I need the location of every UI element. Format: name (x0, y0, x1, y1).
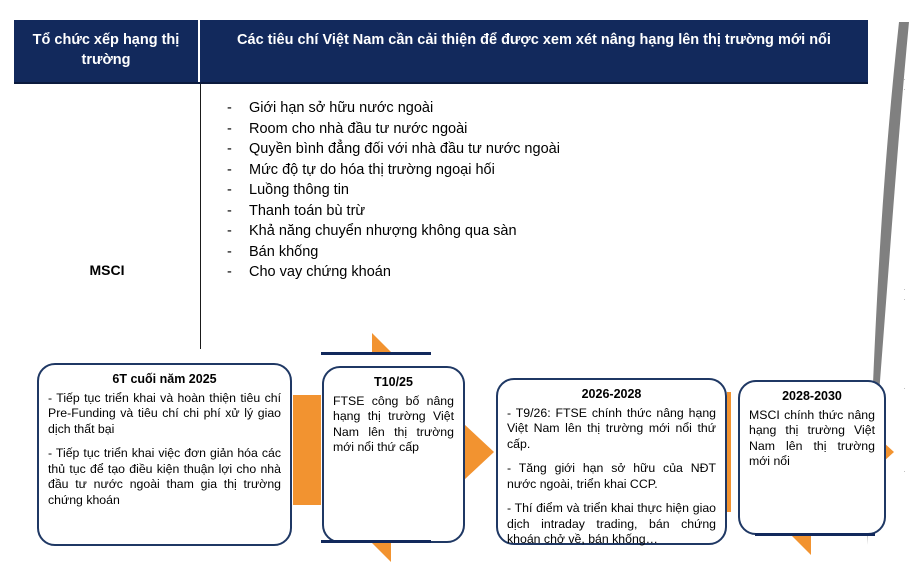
dash-bullet-icon: - (227, 221, 232, 242)
timeline-step-3[interactable]: 2026-2028 - T9/26: FTSE chính thức nâng … (496, 378, 727, 545)
dash-bullet-icon: - (227, 160, 232, 181)
timeline-step-1-paragraph: - Tiếp tục triển khai và hoàn thiện tiêu… (48, 391, 281, 438)
timeline-step-2-body: FTSE công bố nâng hạng thị trường Việt N… (324, 394, 463, 462)
timeline-step-2-paragraph: FTSE công bố nâng hạng thị trường Việt N… (333, 394, 454, 456)
decorative-dots-mid-right: ·· (903, 284, 906, 304)
connector-bar-step3-step4 (727, 392, 731, 512)
decorative-dots-bottom-right: · (903, 466, 906, 476)
accent-triangle-bottom-step2 (372, 543, 391, 562)
timeline-step-3-paragraph: - Tăng giới hạn sở hữu của NĐT nước ngoà… (507, 461, 716, 492)
table-header-row: Tổ chức xếp hạng thị trường Các tiêu chí… (14, 20, 868, 84)
criteria-text: Khả năng chuyển nhượng không qua sàn (249, 223, 517, 239)
timeline-step-4-title: 2028-2030 (740, 382, 884, 408)
criteria-text: Luồng thông tin (249, 182, 349, 198)
timeline-step-4[interactable]: 2028-2030 MSCI chính thức nâng hạng thị … (738, 380, 886, 535)
cell-criteria: -Giới hạn sở hữu nước ngoài -Room cho nh… (201, 84, 868, 349)
timeline-step-4-body: MSCI chính thức nâng hạng thị trường Việ… (740, 408, 884, 476)
timeline-step-2-title: T10/25 (324, 368, 463, 394)
list-item: -Thanh toán bù trừ (221, 201, 868, 222)
criteria-text: Mức độ tự do hóa thị trường ngoại hối (249, 162, 495, 178)
dash-bullet-icon: - (227, 119, 232, 140)
timeline-step-3-body: - T9/26: FTSE chính thức nâng hạng Việt … (498, 406, 725, 554)
dash-bullet-icon: - (227, 98, 232, 119)
dash-bullet-icon: - (227, 242, 232, 263)
criteria-text: Quyền bình đẳng đối với nhà đầu tư nước … (249, 141, 560, 157)
column-header-criteria: Các tiêu chí Việt Nam cần cải thiện để đ… (200, 20, 868, 82)
criteria-text: Bán khống (249, 244, 318, 260)
accent-triangle-bottom-step4 (792, 536, 811, 555)
list-item: -Cho vay chứng khoán (221, 262, 868, 283)
organization-name-msci: MSCI (14, 262, 200, 278)
criteria-text: Giới hạn sở hữu nước ngoài (249, 100, 433, 116)
timeline-step-1-body: - Tiếp tục triển khai và hoàn thiện tiêu… (39, 391, 290, 515)
list-item: -Giới hạn sở hữu nước ngoài (221, 98, 868, 119)
list-item: -Quyền bình đẳng đối với nhà đầu tư nước… (221, 139, 868, 160)
list-item: -Khả năng chuyển nhượng không qua sàn (221, 221, 868, 242)
connector-arrow-step2-step3 (464, 424, 494, 480)
timeline-step-1[interactable]: 6T cuối năm 2025 - Tiếp tục triển khai v… (37, 363, 292, 546)
list-item: -Room cho nhà đầu tư nước ngoài (221, 119, 868, 140)
timeline-step-1-title: 6T cuối năm 2025 (39, 365, 290, 391)
dash-bullet-icon: - (227, 201, 232, 222)
timeline-step-3-paragraph: - T9/26: FTSE chính thức nâng hạng Việt … (507, 406, 716, 453)
list-item: -Luồng thông tin (221, 180, 868, 201)
decorative-dots-top-right: ·· (903, 74, 906, 94)
dash-bullet-icon: - (227, 139, 232, 160)
list-item: -Mức độ tự do hóa thị trường ngoại hối (221, 160, 868, 181)
criteria-table: Tổ chức xếp hạng thị trường Các tiêu chí… (14, 20, 868, 349)
connector-bar-step1-step2 (293, 395, 321, 505)
criteria-list: -Giới hạn sở hữu nước ngoài -Room cho nh… (221, 98, 868, 283)
column-header-organization: Tổ chức xếp hạng thị trường (14, 20, 200, 82)
table-row: MSCI -Giới hạn sở hữu nước ngoài -Room c… (14, 84, 868, 349)
criteria-text: Thanh toán bù trừ (249, 203, 365, 219)
timeline-step-1-paragraph: - Tiếp tục triển khai việc đơn giản hóa … (48, 446, 281, 508)
timeline-step-3-paragraph: - Thí điểm và triển khai thực hiện giao … (507, 501, 716, 548)
list-item: -Bán khống (221, 242, 868, 263)
criteria-text: Cho vay chứng khoán (249, 264, 391, 280)
decorative-dots-lower-right: · (903, 383, 906, 393)
dash-bullet-icon: - (227, 180, 232, 201)
dash-bullet-icon: - (227, 262, 232, 283)
cell-organization: MSCI (14, 84, 201, 349)
timeline-step-3-title: 2026-2028 (498, 380, 725, 406)
criteria-text: Room cho nhà đầu tư nước ngoài (249, 121, 467, 137)
divider-rule-top (321, 352, 431, 355)
timeline-step-4-paragraph: MSCI chính thức nâng hạng thị trường Việ… (749, 408, 875, 470)
timeline-step-2[interactable]: T10/25 FTSE công bố nâng hạng thị trường… (322, 366, 465, 543)
